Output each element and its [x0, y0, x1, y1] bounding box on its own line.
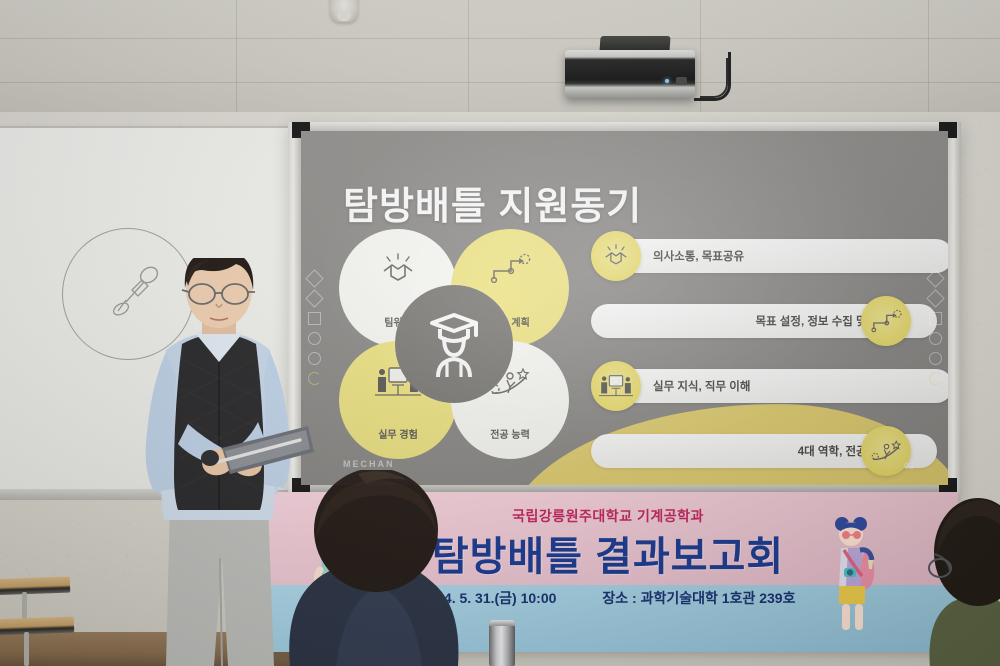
diamond-icon[interactable]: [305, 269, 323, 287]
cluster-center: [395, 285, 513, 403]
list-item-pill: 실무 지식, 직무 이해: [609, 369, 948, 403]
projection-screen: 탐방배틀 지원동기 팀워크: [288, 122, 961, 494]
projector-cable-secondary: [700, 58, 728, 98]
projected-slide: 탐방배틀 지원동기 팀워크: [301, 131, 948, 485]
classroom-photo-scene: 탐방배틀 지원동기 팀워크: [0, 0, 1000, 666]
slide-page-number: 03: [904, 461, 914, 471]
undo-icon[interactable]: [929, 332, 942, 345]
desk: [0, 617, 74, 636]
cluster-label: 전공 능력: [451, 426, 569, 441]
list-item: 의사소통, 목표공유: [591, 231, 911, 281]
sprinkler-head-icon: [330, 0, 358, 22]
undo-icon[interactable]: [308, 332, 321, 345]
audience-member-right: [928, 496, 1000, 666]
graduate-icon: [420, 307, 488, 381]
projector: [565, 50, 695, 98]
pen-icon[interactable]: [926, 289, 944, 307]
drink-can: [489, 620, 515, 666]
path-gear-icon: [861, 296, 911, 346]
cluster-label: 실무 경험: [339, 426, 457, 441]
presentation-people-icon: [591, 361, 641, 411]
banner-location: 장소 : 과학기술대학 1호관 239호: [602, 588, 795, 608]
list-item: 4대 역학, 전공 심화: [591, 426, 911, 476]
whiteboard-toolbar-right[interactable]: [926, 272, 944, 385]
audience-member-center: [262, 470, 492, 666]
square-icon[interactable]: [929, 312, 942, 325]
slide-cluster-diagram: 팀워크 진로 계획: [339, 229, 569, 459]
eraser-icon[interactable]: [929, 372, 942, 385]
handshake-icon: [378, 253, 418, 287]
ceiling: [0, 0, 1000, 120]
projector-lens-icon: [676, 77, 687, 85]
square-icon[interactable]: [308, 312, 321, 325]
list-item-label: 의사소통, 목표공유: [653, 248, 744, 264]
list-item-label: 실무 지식, 직무 이해: [653, 378, 750, 394]
eraser-icon[interactable]: [308, 372, 321, 385]
slide-watermark: MECHAN: [343, 459, 395, 469]
list-item: 목표 설정, 정보 수집 및 탐색: [591, 296, 911, 346]
diamond-icon[interactable]: [926, 269, 944, 287]
path-gear-icon: [489, 253, 531, 285]
pen-icon[interactable]: [305, 289, 323, 307]
redo-icon[interactable]: [308, 352, 321, 365]
slide-title: 탐방배틀 지원동기: [343, 175, 642, 230]
handshake-icon: [591, 231, 641, 281]
list-item-pill: 의사소통, 목표공유: [609, 239, 948, 273]
desk: [0, 577, 70, 596]
list-item: 실무 지식, 직무 이해: [591, 361, 911, 411]
whiteboard-toolbar-left[interactable]: [305, 272, 323, 385]
projector-power-led: [665, 79, 669, 83]
redo-icon[interactable]: [929, 352, 942, 365]
slide-item-list: 의사소통, 목표공유 목표 설정, 정보 수집 및 탐색: [591, 231, 911, 485]
desk-leg: [24, 632, 29, 666]
